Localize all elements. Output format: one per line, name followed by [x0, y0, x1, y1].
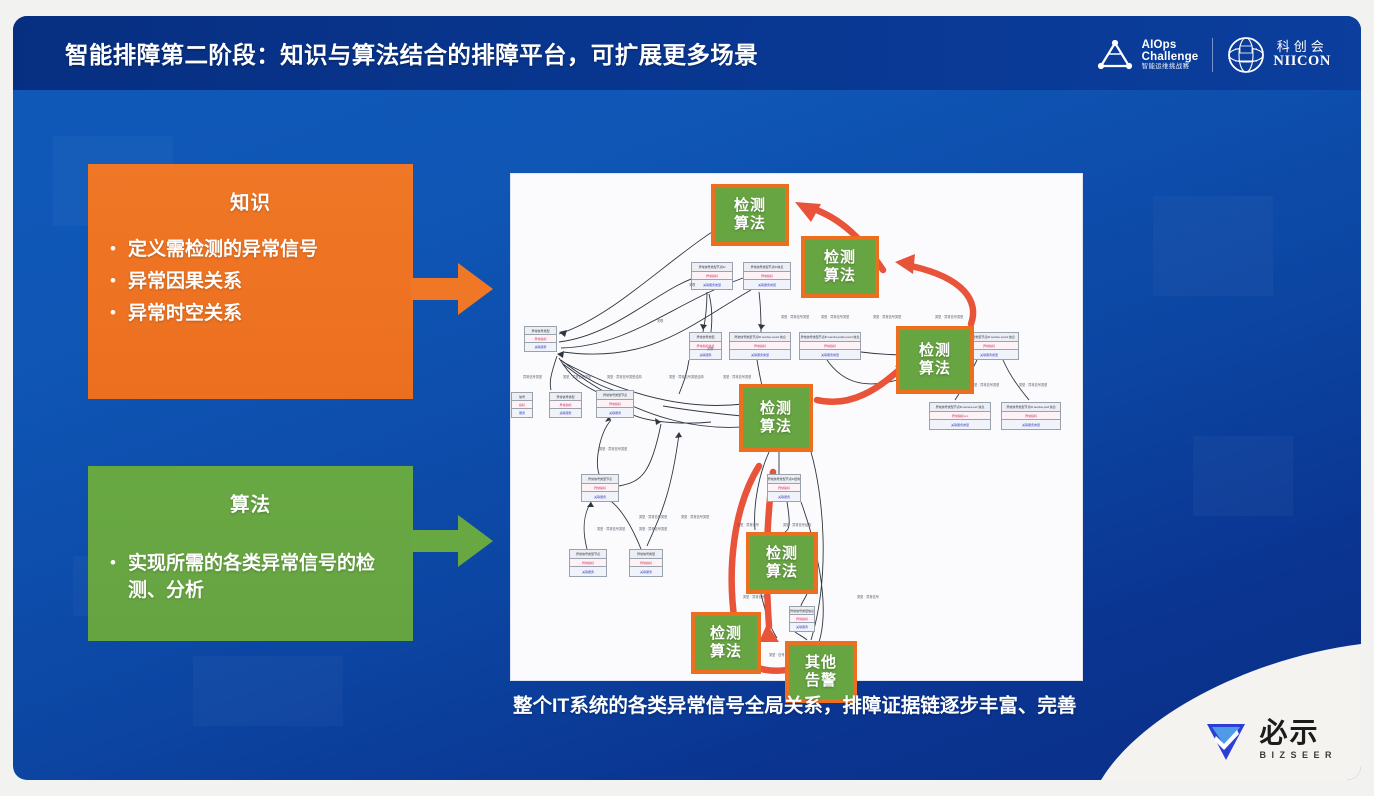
graph-node-row-r2: 异常指标: [525, 335, 556, 343]
aiops-line2: Challenge: [1142, 51, 1199, 63]
bullet-dot-icon: •: [110, 269, 116, 294]
graph-node: 异常信号类型节点ID service-count 信息异常指标关联服务类型: [729, 332, 791, 360]
bullet-dot-icon: •: [110, 301, 116, 326]
list-item: • 定义需检测的异常信号: [110, 237, 395, 264]
graph-node-row-r3: 关联服务: [550, 409, 581, 417]
graph-node-row-r3: 关联服务: [630, 567, 662, 576]
graph-node-row-r3: 关联服务类型: [744, 280, 790, 289]
graph-node-row-r1: 异常信号类型节点ID service-svc 信息: [930, 403, 990, 412]
graph-node-row-r3: 关联服务: [690, 350, 721, 359]
graph-node-row-r1: 异常信号类型节点ID结构: [768, 475, 800, 484]
detection-algorithm-block: 检测算法: [739, 384, 813, 452]
page-title: 智能排障第二阶段：知识与算法结合的排障平台，可扩展更多场景: [65, 36, 758, 70]
graph-node-row-r1: 异常信号类型节点ID service-pods-count 信息: [800, 333, 860, 342]
graph-node-row-r2: 指标: [512, 401, 532, 409]
graph-node-row-r3: 关联服务: [768, 492, 800, 501]
graph-node-row-r2: 异常指标: [630, 559, 662, 568]
graph-node-row-r1: 异常信号类型节点ID: [692, 263, 732, 272]
graph-node: 异常信号类型节点ID结构异常指标关联服务: [767, 474, 801, 502]
graph-edge-label: 类型 · 异常信号类型: [599, 446, 627, 451]
algo-block-line1: 其他: [805, 654, 837, 672]
graph-node: 异常信号类型节点异常指标关联服务: [581, 474, 619, 502]
green-right-arrow-icon: [411, 513, 495, 569]
graph-node-row-r3: 关联服务类型: [930, 420, 990, 429]
algo-block-line1: 检测: [734, 197, 766, 215]
graph-node: 异常信号类型节点ID service-svc 信息异常指标svc关联服务类型: [929, 402, 991, 430]
graph-node-row-r1: 异常信号类型节点: [582, 475, 618, 484]
graph-node-row-r1: 异常信号类型节点ID service-pod 信息: [1002, 403, 1060, 412]
graph-edge-label: 类型 · 异常信号类型: [971, 382, 999, 387]
graph-node-row-r2: 异常指标svc: [930, 412, 990, 421]
graph-node-row-r2: 异常指标: [730, 342, 790, 351]
graph-edge-label: 关联: [707, 346, 713, 351]
list-item: • 实现所需的各类异常信号的检测、分析: [110, 551, 395, 605]
orange-right-arrow-icon: [411, 261, 495, 317]
decorative-block: [1153, 196, 1273, 296]
graph-edge-label: 类型 · 异常信号类型: [1019, 382, 1047, 387]
graph-edge-label: 类型 · 异常信号类型: [821, 314, 849, 319]
graph-edge-label: 类型 · 异常信号类型结构: [607, 374, 642, 379]
bizseer-cn: 必示: [1259, 720, 1337, 748]
bizseer-logo: 必示 BIZSEER: [1203, 718, 1337, 762]
algo-block-line2: 算法: [760, 418, 792, 436]
graph-edge-label: 类型 · 异常信号类型: [873, 314, 901, 319]
algorithm-bullet-1: 实现所需的各类异常信号的检测、分析: [128, 551, 395, 605]
graph-edge-label: 类型 · 异常信号: [857, 594, 879, 599]
algo-block-line2: 告警: [805, 672, 837, 690]
graph-node: 异常信号类型节点ID信息异常指标关联服务类型: [743, 262, 791, 290]
graph-node-row-r3: 关联服务: [790, 623, 814, 631]
slide-canvas: 智能排障第二阶段：知识与算法结合的排障平台，可扩展更多场景 AIOps Chal…: [13, 16, 1361, 780]
graph-edge-label: 类型 · 异常信号类型: [597, 526, 625, 531]
graph-node-row-r3: 关联服务: [525, 343, 556, 351]
detection-algorithm-block: 检测算法: [896, 326, 974, 394]
diagram-caption: 整个IT系统的各类异常信号全局关系，排障证据链逐步丰富、完善: [513, 692, 1113, 721]
graph-node: 异常信号类型异常指标关联服务: [524, 326, 557, 352]
graph-node-row-r3: 关联服务: [582, 492, 618, 501]
aiops-line1: AIOps: [1142, 39, 1199, 51]
graph-node-row-r2: 异常指标: [582, 484, 618, 493]
graph-edge-label: 类型 · 异常信号: [743, 594, 765, 599]
aiops-line3: 智能运维挑战赛: [1142, 64, 1199, 71]
graph-edge-label: 类型 · 异常信号: [737, 522, 759, 527]
graph-edge-label: 类型 · 异常信号类型: [723, 374, 751, 379]
graph-node-row-r1: 异常信号类型: [690, 333, 721, 342]
list-item: • 异常时空关系: [110, 301, 395, 328]
graph-node-row-r2: 异常指标: [570, 559, 606, 568]
algo-block-line2: 算法: [919, 360, 951, 378]
graph-node: 异常信号类型节点ID异常指标关联服务类型: [691, 262, 733, 290]
algo-block-line1: 检测: [766, 545, 798, 563]
graph-node: 异常信号类型节点异常指标关联服务: [569, 549, 607, 577]
graph-node-row-r2: 异常指标信息: [690, 342, 721, 351]
graph-node: 异常信号类型节点ID service-pod 信息异常指标关联服务类型: [1001, 402, 1061, 430]
detection-algorithm-block: 检测算法: [711, 184, 789, 246]
algo-block-line2: 算法: [710, 643, 742, 661]
niicon-en: NIICON: [1273, 54, 1331, 70]
graph-node: 异常信号类型节点ID service-pods-count 信息异常指标关联服务…: [799, 332, 861, 360]
graph-node-row-r1: 异常信号类型节点: [570, 550, 606, 559]
graph-node-row-r2: 异常指标: [1002, 412, 1060, 421]
graph-edge-label: 关联: [689, 282, 695, 287]
graph-node-row-r3: 关联服务类型: [1002, 420, 1060, 429]
logo-divider: [1212, 38, 1213, 72]
graph-node-row-r3: 关联服务: [597, 408, 633, 417]
graph-edge-label: 类型 · 异常信号类型结构: [669, 374, 704, 379]
aiops-challenge-logo: AIOps Challenge 智能运维挑战赛: [1095, 38, 1199, 72]
graph-node-row-r1: 异常信号类型: [550, 393, 581, 401]
algo-block-line2: 算法: [766, 563, 798, 581]
graph-node-row-r2: 异常指标: [597, 400, 633, 409]
algo-block-line2: 算法: [824, 267, 856, 285]
graph-node-row-r1: 异常信号类型: [630, 550, 662, 559]
graph-node-row-r1: 异常信号类型节点: [597, 391, 633, 400]
bullet-dot-icon: •: [110, 237, 116, 262]
graph-node: 异常信号类型异常指标关联服务: [629, 549, 663, 577]
algo-block-line2: 算法: [734, 215, 766, 233]
niicon-cn: 科创会: [1273, 40, 1331, 54]
graph-edge-label: 类型 · 异常信号结构: [783, 522, 811, 527]
graph-node-row-r2: 异常指标: [692, 272, 732, 281]
graph-node-row-r3: 服务: [512, 409, 532, 417]
knowledge-bullet-list: • 定义需检测的异常信号 • 异常因果关系 • 异常时空关系: [88, 237, 413, 328]
graph-edge-label: 异常信号类型: [523, 374, 542, 379]
graph-node-row-r2: 异常指标: [744, 272, 790, 281]
graph-edge-label: 关联: [657, 318, 663, 323]
graph-node: 异常信号类型节点异常指标关联服务: [596, 390, 634, 418]
graph-node-row-r1: 异常信号类型信息: [790, 607, 814, 615]
graph-node-row-r2: 异常指标: [550, 401, 581, 409]
list-item: • 异常因果关系: [110, 269, 395, 296]
header-logos: AIOps Challenge 智能运维挑战赛 科创会 NIICON: [1095, 33, 1331, 77]
graph-edge-label: 类型 · 信号: [769, 652, 785, 657]
aiops-triangle-icon: [1095, 38, 1135, 72]
niicon-logo: 科创会 NIICON: [1227, 36, 1331, 74]
graph-edge-label: 类型 · 异常信号类型: [681, 514, 709, 519]
graph-node-row-r2: 异常指标: [768, 484, 800, 493]
graph-node-row-r3: 关联服务类型: [800, 350, 860, 359]
graph-edge-label: 类型 · 异常信号类型: [781, 314, 809, 319]
algo-block-line1: 检测: [824, 249, 856, 267]
graph-node: 信号指标服务: [511, 392, 533, 418]
anomaly-graph-panel: 异常信号类型异常指标关联服务信号指标服务异常信号类型异常指标关联服务异常信号类型…: [510, 173, 1083, 681]
graph-node-row-r3: 关联服务类型: [692, 280, 732, 289]
algorithm-card-title: 算法: [88, 466, 413, 517]
niicon-globe-icon: [1227, 36, 1265, 74]
detection-algorithm-block: 检测算法: [801, 236, 879, 298]
graph-node: 异常信号类型异常指标关联服务: [549, 392, 582, 418]
decorative-block: [193, 656, 343, 726]
graph-node-row-r1: 异常信号类型节点ID service-count 信息: [730, 333, 790, 342]
slide-header: 智能排障第二阶段：知识与算法结合的排障平台，可扩展更多场景 AIOps Chal…: [13, 16, 1361, 90]
algo-block-line1: 检测: [919, 342, 951, 360]
graph-edge-label: 类型 · 异常信号类型: [639, 514, 667, 519]
graph-node: 异常信号类型异常指标信息关联服务: [689, 332, 722, 360]
graph-edge-label: 类型 · 异常信号类型: [563, 374, 591, 379]
algorithm-card: 算法 • 实现所需的各类异常信号的检测、分析: [88, 466, 413, 641]
graph-edge-label: 类型 · 异常信号类型: [935, 314, 963, 319]
decorative-block: [1193, 436, 1293, 516]
algo-block-line1: 检测: [710, 625, 742, 643]
graph-node: 异常信号类型信息异常指标关联服务: [789, 606, 815, 632]
graph-node-row-r1: 信号: [512, 393, 532, 401]
knowledge-bullet-1: 定义需检测的异常信号: [128, 237, 318, 264]
graph-node-row-r2: 异常指标: [800, 342, 860, 351]
graph-edge-label: 类型 · 异常信号类型: [639, 526, 667, 531]
algo-block-line1: 检测: [760, 400, 792, 418]
bizseer-en: BIZSEER: [1259, 751, 1337, 760]
knowledge-bullet-2: 异常因果关系: [128, 269, 242, 296]
bullet-dot-icon: •: [110, 551, 116, 576]
algorithm-bullet-list: • 实现所需的各类异常信号的检测、分析: [88, 551, 413, 605]
detection-algorithm-block: 检测算法: [746, 532, 818, 594]
graph-node-row-r2: 异常指标: [790, 615, 814, 623]
graph-node-row-r3: 关联服务类型: [730, 350, 790, 359]
detection-algorithm-block: 检测算法: [691, 612, 761, 674]
bizseer-chevron-icon: [1203, 718, 1249, 762]
graph-node-row-r3: 关联服务: [570, 567, 606, 576]
knowledge-card: 知识 • 定义需检测的异常信号 • 异常因果关系 • 异常时空关系: [88, 164, 413, 399]
graph-node-row-r1: 异常信号类型节点ID信息: [744, 263, 790, 272]
knowledge-card-title: 知识: [88, 164, 413, 215]
knowledge-bullet-3: 异常时空关系: [128, 301, 242, 328]
graph-node-row-r1: 异常信号类型: [525, 327, 556, 335]
